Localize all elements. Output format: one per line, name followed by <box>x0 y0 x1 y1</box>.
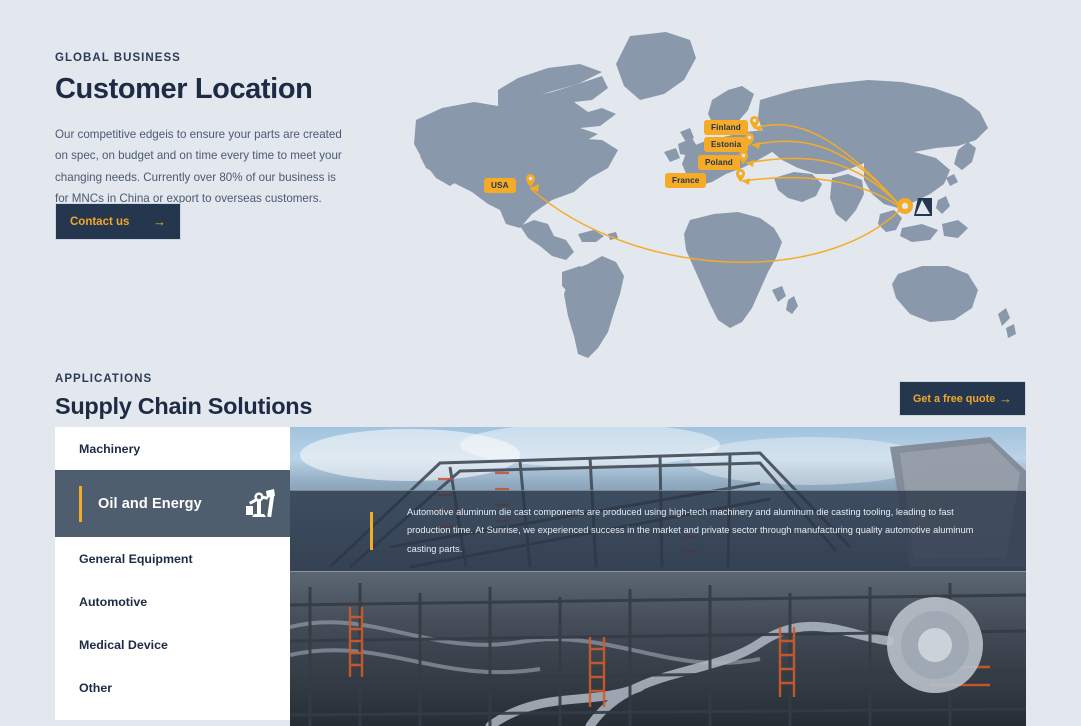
tab-label: Other <box>79 681 112 695</box>
tab-other[interactable]: Other <box>55 666 290 709</box>
applications-panel: Automotive aluminum die cast components … <box>55 427 1026 726</box>
tab-oil-and-energy[interactable]: Oil and Energy <box>55 470 290 537</box>
application-description-text: Automotive aluminum die cast components … <box>407 503 985 557</box>
tab-medical-device[interactable]: Medical Device <box>55 623 290 666</box>
photo-divider-bottom <box>290 571 1026 572</box>
contact-us-label: Contact us <box>70 216 129 228</box>
world-map: USA France Poland Estonia Finland <box>402 28 1042 370</box>
arrow-right-icon: → <box>999 392 1012 405</box>
tab-label: Machinery <box>79 442 140 456</box>
applications-tab-list-lower: General Equipment Automotive Medical Dev… <box>55 537 290 709</box>
overlay-accent-bar <box>370 512 373 550</box>
map-pin-icon-finland <box>750 116 759 129</box>
tab-label: General Equipment <box>79 552 193 566</box>
map-marker-estonia[interactable]: Estonia <box>704 137 748 152</box>
map-pin-icon-poland <box>739 151 748 164</box>
tab-label: Automotive <box>79 595 147 609</box>
tab-general-equipment[interactable]: General Equipment <box>55 537 290 580</box>
map-marker-finland[interactable]: Finland <box>704 120 748 135</box>
tab-label: Oil and Energy <box>98 496 202 512</box>
contact-us-button[interactable]: Contact us → <box>55 203 181 240</box>
get-a-free-quote-label: Get a free quote <box>913 393 995 405</box>
map-pin-icon-estonia <box>745 133 754 146</box>
map-marker-poland[interactable]: Poland <box>698 155 740 170</box>
application-description-overlay: Automotive aluminum die cast components … <box>290 490 1026 571</box>
map-landmasses <box>414 32 1016 358</box>
applications-eyebrow: APPLICATIONS <box>55 373 312 385</box>
applications-heading-block: APPLICATIONS Supply Chain Solutions <box>55 373 312 420</box>
tab-machinery[interactable]: Machinery <box>55 427 290 470</box>
tab-label: Medical Device <box>79 638 168 652</box>
map-pin-icon-france <box>736 169 745 182</box>
applications-title: Supply Chain Solutions <box>55 393 312 420</box>
map-pin-icon-usa <box>526 174 535 187</box>
world-map-svg <box>402 28 1042 370</box>
tab-automotive[interactable]: Automotive <box>55 580 290 623</box>
page-title: Customer Location <box>55 73 355 106</box>
hero-text-block: GLOBAL BUSINESS Customer Location Our co… <box>55 52 355 209</box>
hero-eyebrow: GLOBAL BUSINESS <box>55 52 355 64</box>
hero-paragraph: Our competitive edgeis to ensure your pa… <box>55 124 345 208</box>
get-a-free-quote-button[interactable]: Get a free quote → <box>899 381 1026 416</box>
map-marker-usa[interactable]: USA <box>484 178 516 193</box>
application-photo: Automotive aluminum die cast components … <box>290 427 1026 726</box>
photo-industrial-structure <box>290 427 1026 726</box>
arrow-right-icon: → <box>153 215 166 228</box>
photo-divider-top <box>290 490 1026 491</box>
oil-pumpjack-icon <box>244 488 276 519</box>
active-tab-accent-bar <box>79 486 82 522</box>
page-root: GLOBAL BUSINESS Customer Location Our co… <box>0 0 1081 726</box>
map-marker-france[interactable]: France <box>665 173 706 188</box>
